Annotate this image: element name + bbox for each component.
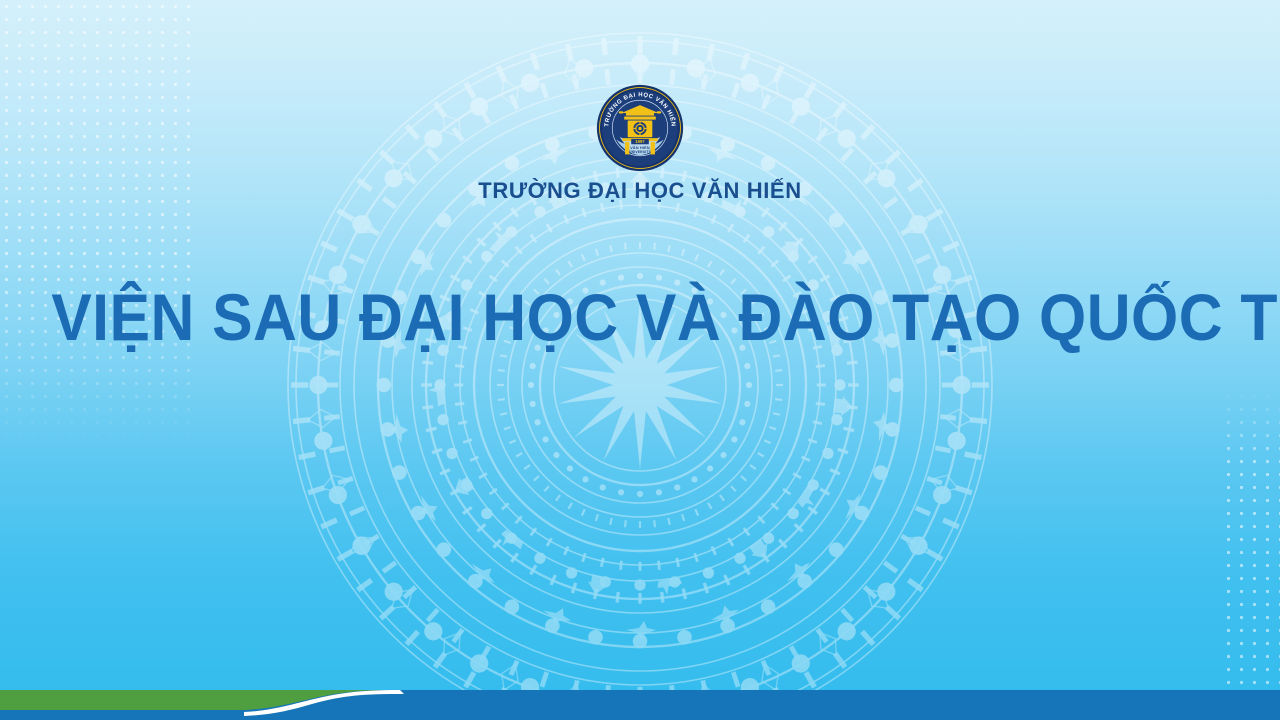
- slide-canvas: TRƯỜNG ĐẠI HỌC VĂN HIẾN: [0, 0, 1280, 720]
- university-name: TRƯỜNG ĐẠI HỌC VĂN HIẾN: [0, 178, 1280, 204]
- svg-text:UNIVERSITY: UNIVERSITY: [629, 150, 652, 154]
- page-title: VIỆN SAU ĐẠI HỌC VÀ ĐÀO TẠO QUỐC TẾ: [51, 283, 1229, 352]
- university-logo-icon: TRƯỜNG ĐẠI HỌC VĂN HIẾN: [596, 84, 684, 172]
- bottom-accent-bar: [0, 690, 1280, 720]
- dot-grid-left: [0, 0, 190, 445]
- svg-text:VĂN HIẾN: VĂN HIẾN: [630, 145, 650, 150]
- svg-text:1997: 1997: [635, 139, 645, 144]
- dot-grid-right: [1222, 390, 1280, 720]
